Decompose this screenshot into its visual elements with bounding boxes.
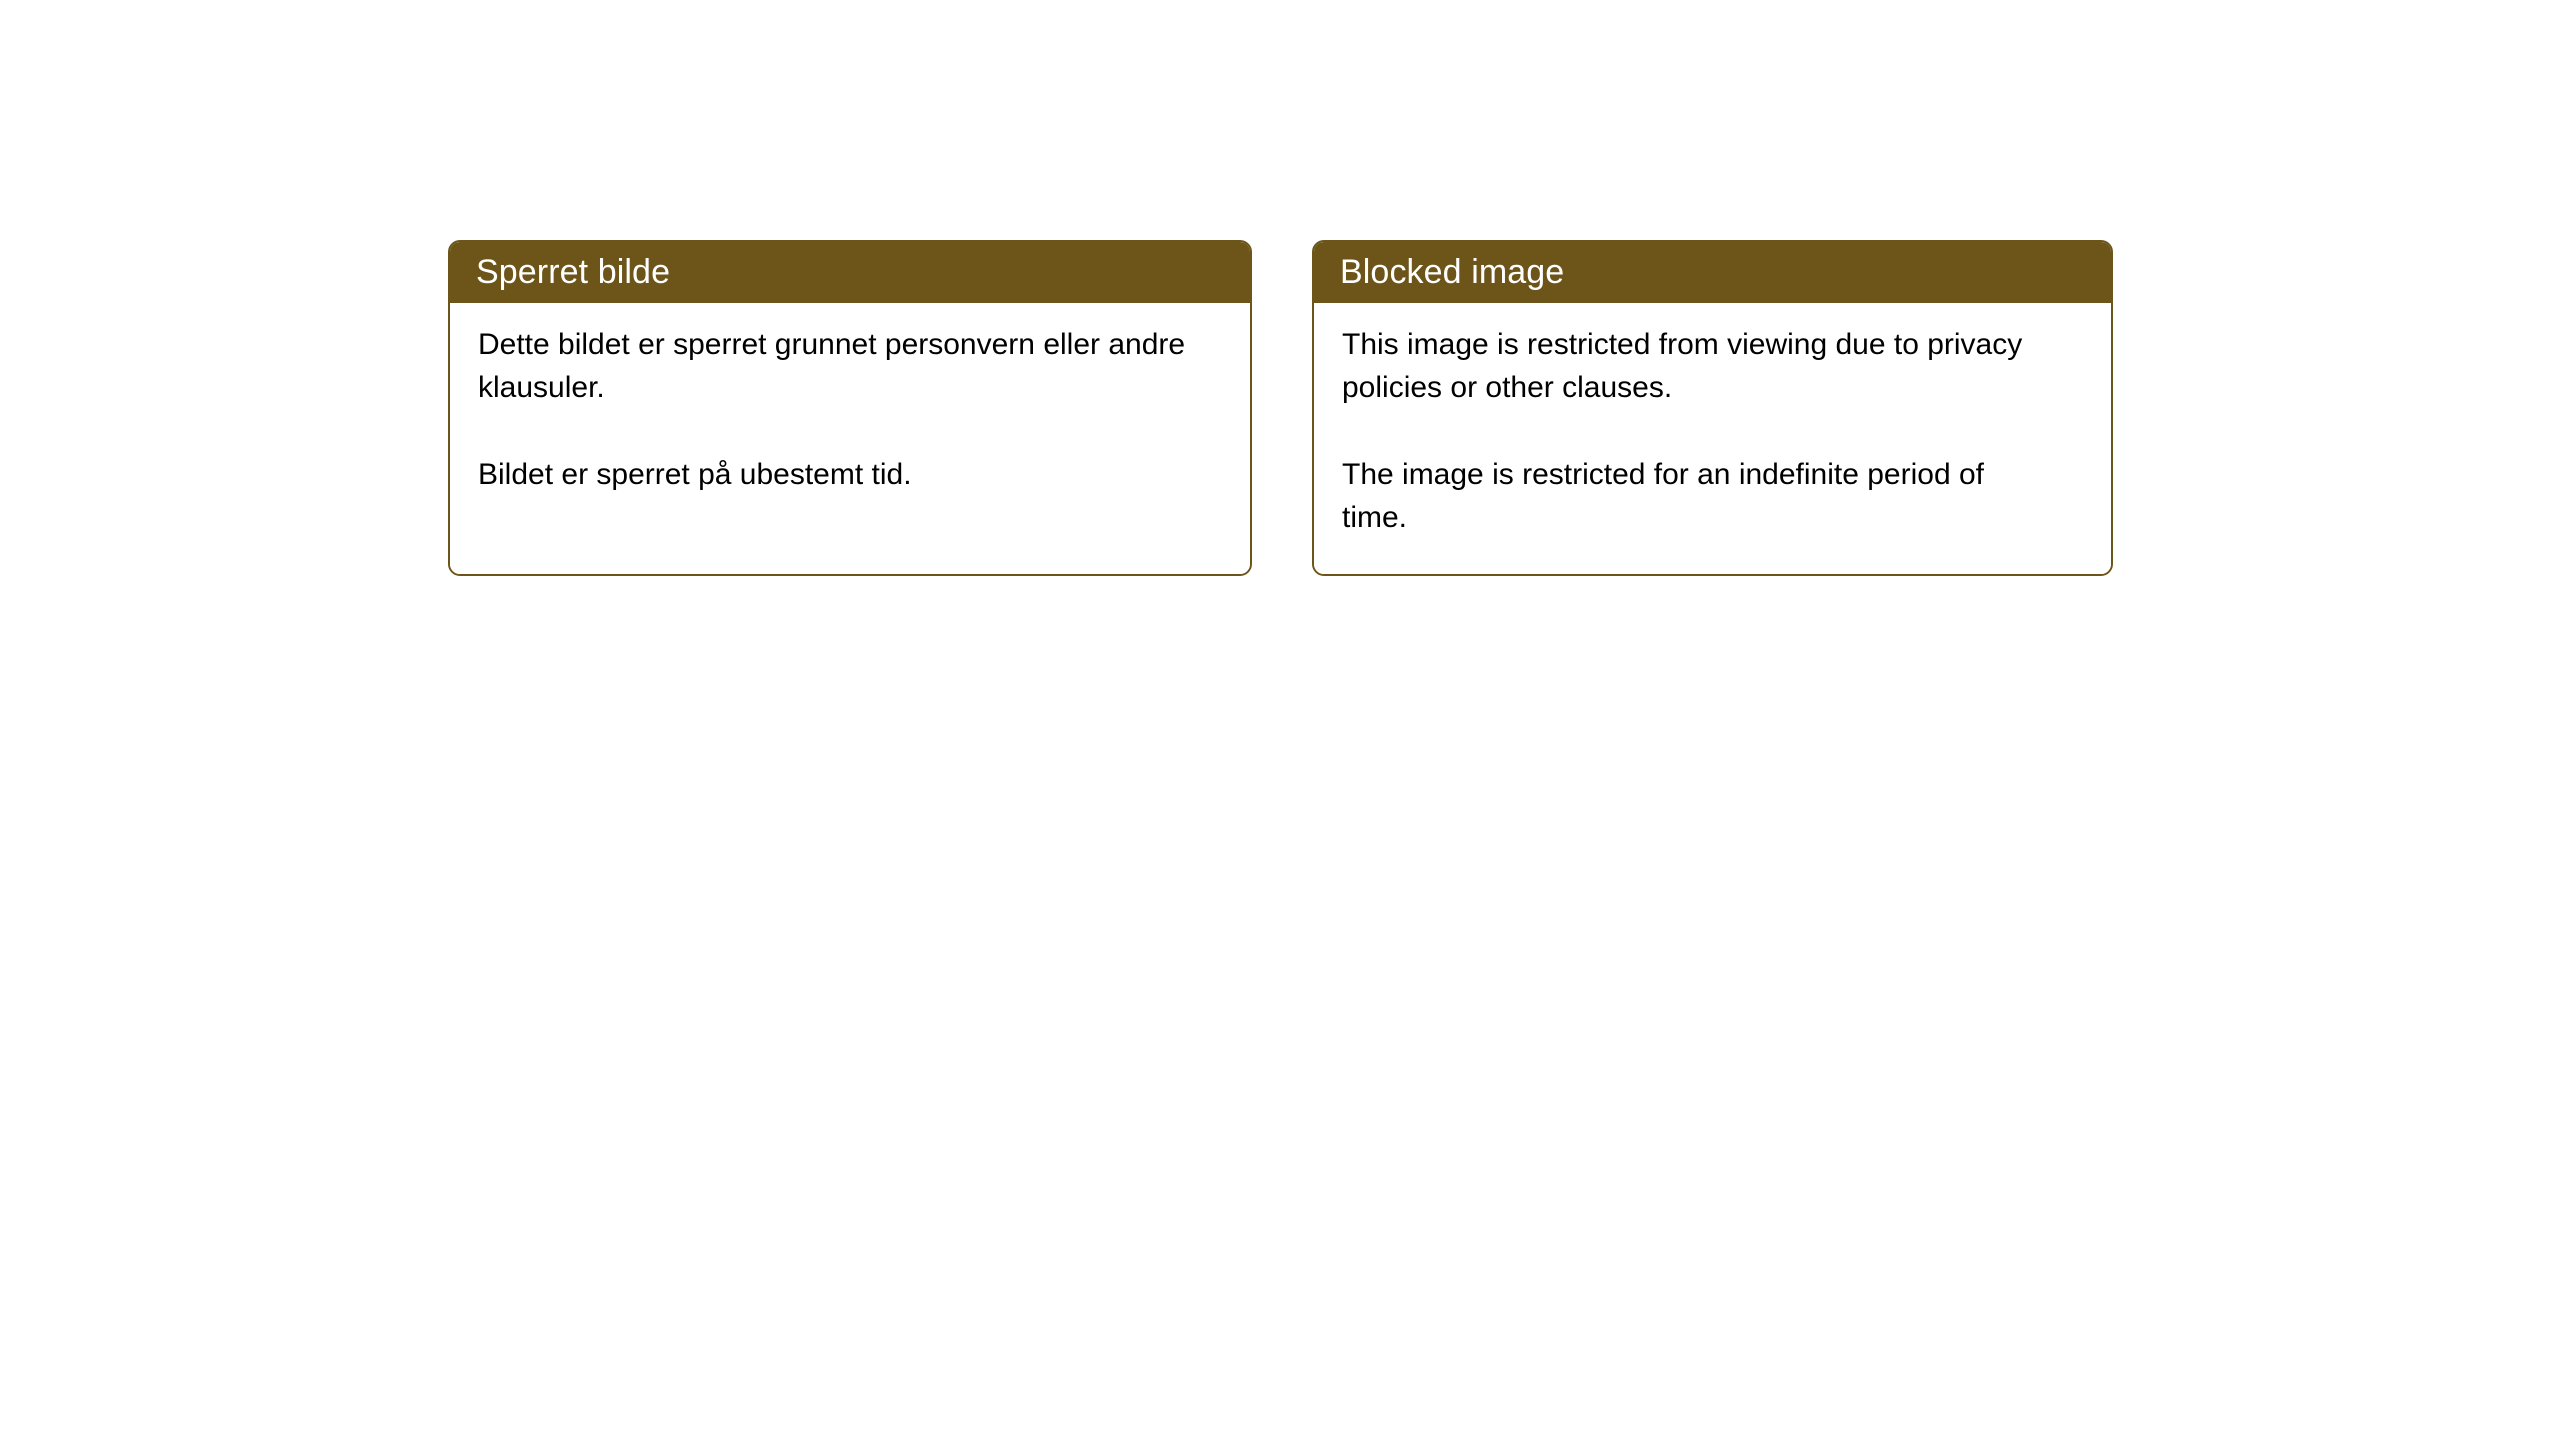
card-body-english: This image is restricted from viewing du… — [1314, 303, 2111, 574]
card-paragraph-duration-norwegian: Bildet er sperret på ubestemt tid. — [478, 453, 1198, 496]
blocked-image-notice-area: Sperret bilde Dette bildet er sperret gr… — [448, 240, 2113, 576]
card-paragraph-duration-english: The image is restricted for an indefinit… — [1342, 453, 2042, 539]
card-paragraph-reason-norwegian: Dette bildet er sperret grunnet personve… — [478, 323, 1198, 409]
blocked-image-card-norwegian: Sperret bilde Dette bildet er sperret gr… — [448, 240, 1252, 576]
card-paragraph-reason-english: This image is restricted from viewing du… — [1342, 323, 2042, 409]
card-body-norwegian: Dette bildet er sperret grunnet personve… — [450, 303, 1250, 574]
blocked-image-card-english: Blocked image This image is restricted f… — [1312, 240, 2113, 576]
card-title-english: Blocked image — [1314, 242, 2111, 303]
card-title-norwegian: Sperret bilde — [450, 242, 1250, 303]
